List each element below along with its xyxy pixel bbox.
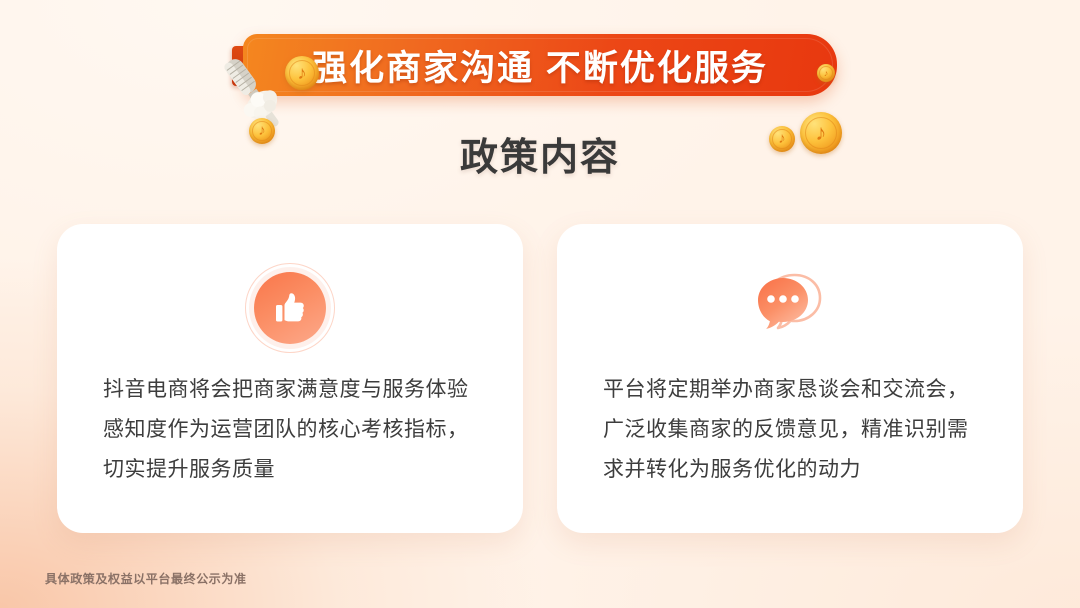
chat-bubble-icon	[748, 272, 832, 346]
coin-music-note-icon: ♪	[249, 118, 275, 144]
policy-card-text: 平台将定期举办商家恳谈会和交流会，广泛收集商家的反馈意见，精准识别需求并转化为服…	[603, 370, 977, 490]
coin-music-note-icon: ♪	[285, 56, 319, 90]
policy-card-merchant-communication: 平台将定期举办商家恳谈会和交流会，广泛收集商家的反馈意见，精准识别需求并转化为服…	[557, 224, 1023, 533]
policy-card-text: 抖音电商将会把商家满意度与服务体验感知度作为运营团队的核心考核指标，切实提升服务…	[103, 370, 477, 490]
card-icon-wrap	[57, 272, 523, 344]
coin-music-note-icon: ♪	[769, 126, 795, 152]
banner: 强化商家沟通 不断优化服务	[0, 34, 1080, 106]
card-icon-wrap	[557, 272, 1023, 346]
banner-plate: 强化商家沟通 不断优化服务	[243, 34, 837, 96]
policy-card-merchant-satisfaction: 抖音电商将会把商家满意度与服务体验感知度作为运营团队的核心考核指标，切实提升服务…	[57, 224, 523, 533]
banner-title: 强化商家沟通 不断优化服务	[312, 40, 768, 91]
thumbs-up-icon	[254, 272, 326, 344]
policy-card-list: 抖音电商将会把商家满意度与服务体验感知度作为运营团队的核心考核指标，切实提升服务…	[57, 224, 1023, 533]
coin-music-note-icon: ♪	[817, 64, 835, 82]
page-title: 政策内容	[0, 126, 1080, 181]
footer-disclaimer: 具体政策及权益以平台最终公示为准	[45, 570, 247, 587]
slide-root: 强化商家沟通 不断优化服务	[0, 0, 1080, 608]
coin-music-note-icon: ♪	[800, 112, 842, 154]
